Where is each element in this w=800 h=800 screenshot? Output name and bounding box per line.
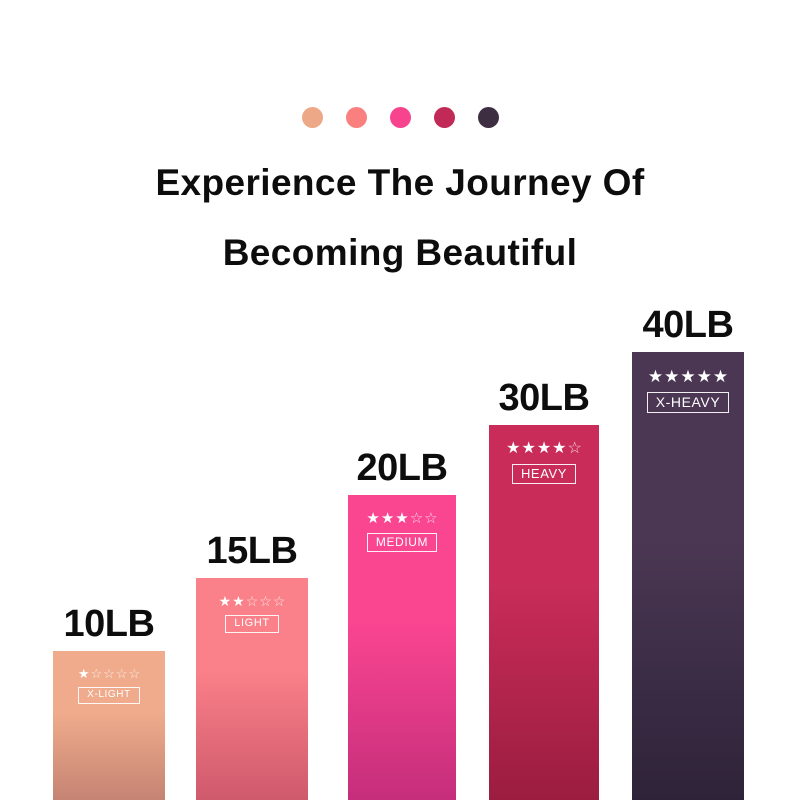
bar-30lb[interactable]: ★★★★☆HEAVY	[489, 425, 599, 800]
star-empty-icon: ☆	[273, 594, 286, 608]
star-empty-icon: ☆	[116, 667, 128, 680]
star-filled-icon: ★	[680, 368, 695, 385]
bar-30lb-star-rating: ★★★★☆	[506, 441, 582, 457]
star-filled-icon: ★	[78, 667, 90, 680]
bar-20lb-content: ★★★☆☆MEDIUM	[348, 511, 456, 552]
bar-15lb[interactable]: ★★☆☆☆LIGHT	[196, 578, 308, 800]
star-empty-icon: ☆	[246, 594, 259, 608]
bar-40lb-weight-label: 40LB	[643, 306, 734, 344]
bar-15lb-weight-label: 15LB	[207, 532, 298, 570]
bar-10lb-star-rating: ★☆☆☆☆	[78, 667, 140, 680]
resistance-bar-chart: 10LB★☆☆☆☆X-LIGHT15LB★★☆☆☆LIGHT20LB★★★☆☆M…	[0, 0, 800, 800]
star-empty-icon: ☆	[410, 511, 423, 526]
star-empty-icon: ☆	[568, 441, 582, 457]
star-empty-icon: ☆	[128, 667, 140, 680]
bar-40lb-star-rating: ★★★★★	[648, 368, 728, 385]
star-empty-icon: ☆	[103, 667, 115, 680]
star-filled-icon: ★	[506, 441, 520, 457]
star-filled-icon: ★	[219, 594, 232, 608]
star-empty-icon: ☆	[91, 667, 103, 680]
star-filled-icon: ★	[381, 511, 394, 526]
bar-15lb-content: ★★☆☆☆LIGHT	[196, 594, 308, 633]
bar-40lb-content: ★★★★★X-HEAVY	[632, 368, 744, 413]
star-filled-icon: ★	[552, 441, 566, 457]
bar-10lb-content: ★☆☆☆☆X-LIGHT	[53, 667, 165, 704]
bar-30lb-group: 30LB★★★★☆HEAVY	[489, 425, 599, 800]
bar-40lb-tier-badge: X-HEAVY	[647, 392, 730, 413]
bar-10lb-weight-label: 10LB	[64, 605, 155, 643]
star-filled-icon: ★	[537, 441, 551, 457]
star-filled-icon: ★	[395, 511, 408, 526]
bar-20lb-tier-badge: MEDIUM	[367, 533, 437, 552]
poster-canvas: Experience The Journey Of Becoming Beaut…	[0, 0, 800, 800]
bar-20lb-weight-label: 20LB	[357, 449, 448, 487]
bar-30lb-tier-badge: HEAVY	[512, 464, 576, 484]
star-empty-icon: ☆	[424, 511, 437, 526]
star-filled-icon: ★	[713, 368, 728, 385]
bar-20lb-star-rating: ★★★☆☆	[366, 511, 437, 526]
bar-15lb-group: 15LB★★☆☆☆LIGHT	[196, 578, 308, 800]
bar-10lb[interactable]: ★☆☆☆☆X-LIGHT	[53, 651, 165, 800]
star-filled-icon: ★	[664, 368, 679, 385]
bar-10lb-group: 10LB★☆☆☆☆X-LIGHT	[53, 651, 165, 800]
bar-15lb-tier-badge: LIGHT	[225, 615, 278, 633]
bar-15lb-star-rating: ★★☆☆☆	[219, 594, 286, 608]
bar-10lb-tier-badge: X-LIGHT	[78, 687, 140, 704]
star-filled-icon: ★	[521, 441, 535, 457]
star-empty-icon: ☆	[259, 594, 272, 608]
bar-40lb[interactable]: ★★★★★X-HEAVY	[632, 352, 744, 800]
bar-30lb-weight-label: 30LB	[499, 379, 590, 417]
bar-20lb-group: 20LB★★★☆☆MEDIUM	[348, 495, 456, 800]
bar-20lb[interactable]: ★★★☆☆MEDIUM	[348, 495, 456, 800]
star-filled-icon: ★	[648, 368, 663, 385]
bar-30lb-content: ★★★★☆HEAVY	[489, 441, 599, 484]
bar-40lb-group: 40LB★★★★★X-HEAVY	[632, 352, 744, 800]
star-filled-icon: ★	[232, 594, 245, 608]
star-filled-icon: ★	[366, 511, 379, 526]
star-filled-icon: ★	[697, 368, 712, 385]
